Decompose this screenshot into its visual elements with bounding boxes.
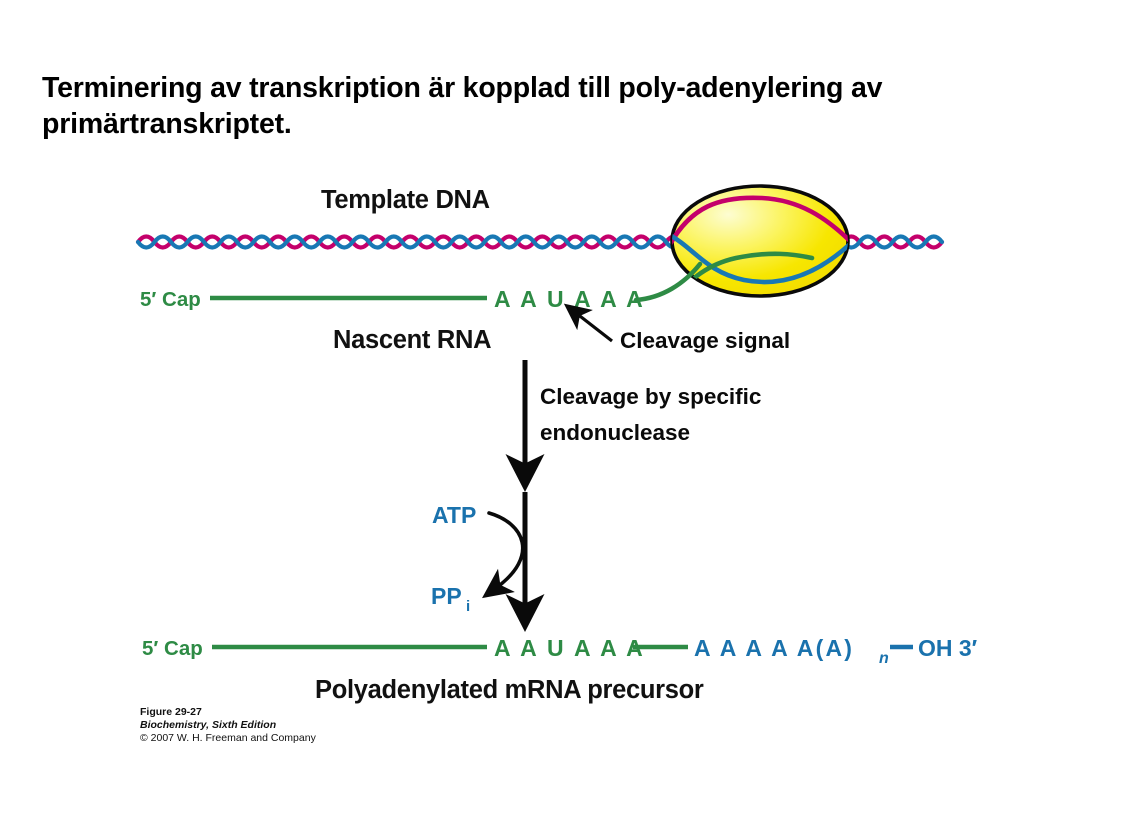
polymerase-ellipse <box>672 186 848 296</box>
rna-polymerase-bubble <box>660 186 850 310</box>
cleavage-step-label-line1: Cleavage by specific <box>540 384 761 409</box>
five-prime-cap-bottom-label: 5′ Cap <box>142 637 203 660</box>
mature-cleavage-signal-sequence: A A U A A A <box>494 635 645 661</box>
figure-number: Figure 29-27 <box>140 706 316 719</box>
three-prime-end-label: OH 3′ <box>918 635 978 661</box>
cleavage-step-label-line2: endonuclease <box>540 420 690 445</box>
cleavage-signal-arrow <box>576 313 612 341</box>
poly-a-tail-subscript: n <box>879 650 889 667</box>
five-prime-cap-top-label: 5′ Cap <box>140 288 201 311</box>
atp-label: ATP <box>432 502 476 528</box>
transcription-termination-figure: Template DNA <box>0 0 1130 816</box>
dna-double-helix-left <box>138 237 683 248</box>
cleavage-signal-label: Cleavage signal <box>620 328 790 353</box>
dna-double-helix-right <box>843 237 942 248</box>
ppi-label-main: PP <box>431 583 462 609</box>
template-dna-label: Template DNA <box>321 186 490 214</box>
ppi-label: PP i <box>431 583 470 615</box>
slide-canvas: Terminering av transkription är kopplad … <box>0 0 1130 816</box>
figure-container: Template DNA <box>0 0 1130 816</box>
atp-to-ppi-curved-arrow <box>489 513 523 588</box>
poly-a-tail-sequence: A A A A A(A) <box>694 635 854 661</box>
nascent-rna-label: Nascent RNA <box>333 326 491 354</box>
figure-credit: Figure 29-27 Biochemistry, Sixth Edition… <box>140 706 316 745</box>
cleavage-signal-sequence: A A U A A A <box>494 286 645 312</box>
poly-a-tail-group: A A A A A(A) n <box>694 635 889 667</box>
polyadenylated-mrna-label: Polyadenylated mRNA precursor <box>315 676 704 704</box>
ppi-label-subscript: i <box>466 598 470 615</box>
figure-copyright: © 2007 W. H. Freeman and Company <box>140 732 316 745</box>
figure-source: Biochemistry, Sixth Edition <box>140 719 316 732</box>
